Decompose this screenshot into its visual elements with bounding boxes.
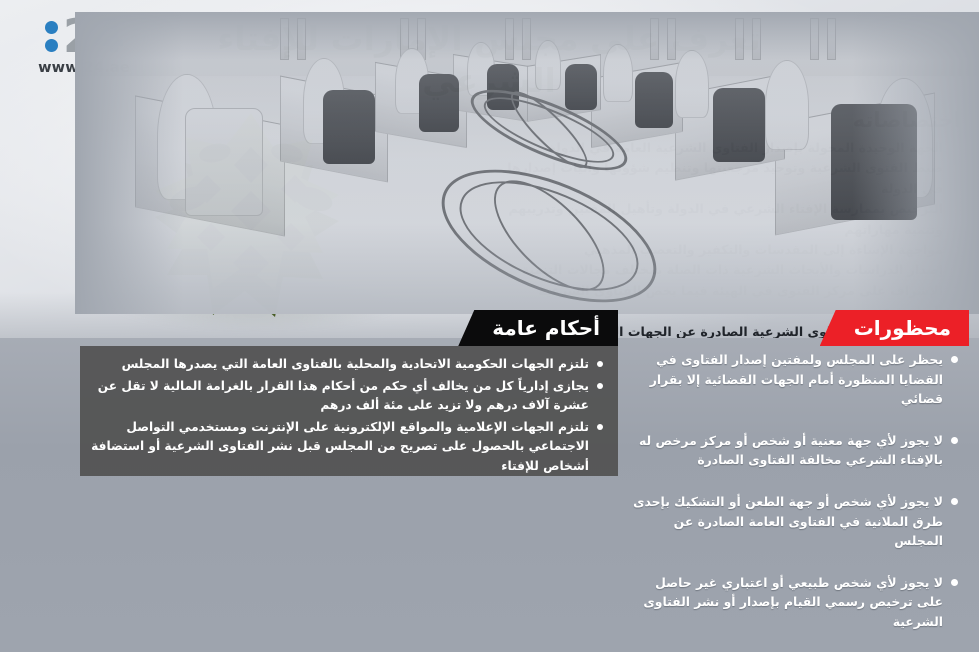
list-item-text: لا يجوز لأي شخص أو جهة الطعن أو التشكيك … [633,494,943,548]
list-item: تلتزم الجهات الإعلامية والمواقع الإلكترو… [90,418,604,477]
infographic-root: 2 4 www.24.ae تعرف على مجلس الإمارات للإ… [0,0,979,652]
list-item-text: يجازى إدارياً كل من يخالف أي حكم من أحكا… [98,379,589,413]
list-item: لا يجوز لأي جهة معنية أو شخص أو مركز مرخ… [629,431,959,470]
bullet-icon [951,498,958,505]
list-item-text: يحظر على المجلس ولمفتين إصدار الفتاوى في… [650,352,943,406]
list-item-text: تلتزم الجهات الحكومية الاتحادية والمحلية… [122,357,589,371]
photo-overlay [75,12,979,314]
list-item: لا يجوز لأي شخص طبيعي أو اعتباري غير حاص… [629,573,959,632]
list-item: يحظر على المجلس ولمفتين إصدار الفتاوى في… [629,350,959,409]
prohibitions-section: يحظر على المجلس ولمفتين إصدار الفتاوى في… [629,350,959,652]
bullet-icon [951,437,958,444]
bullet-icon [951,356,958,363]
prohibitions-heading: محظورات [820,310,969,346]
list-item-text: لا يجوز لأي جهة معنية أو شخص أو مركز مرخ… [639,433,943,468]
bullet-icon [597,361,603,367]
list-item-text: تلتزم الجهات الإعلامية والمواقع الإلكترو… [91,420,589,473]
bullet-icon [597,383,603,389]
list-item: تلتزم الجهات الحكومية الاتحادية والمحلية… [90,355,604,375]
general-provisions-heading: أحكام عامة [458,310,618,346]
bullet-icon [597,424,603,430]
bullet-icon [951,579,958,586]
list-item-text: لا يجوز لأي شخص طبيعي أو اعتباري غير حاص… [643,575,943,629]
colon-icon [45,21,58,52]
list-item: يجازى إدارياً كل من يخالف أي حكم من أحكا… [90,377,604,416]
general-provisions-list: تلتزم الجهات الحكومية الاتحادية والمحلية… [80,346,618,476]
prohibitions-list: يحظر على المجلس ولمفتين إصدار الفتاوى في… [629,350,959,632]
list-item: لا يجوز لأي شخص أو جهة الطعن أو التشكيك … [629,492,959,551]
general-provisions-panel: تلتزم الجهات الحكومية الاتحادية والمحلية… [80,346,618,476]
